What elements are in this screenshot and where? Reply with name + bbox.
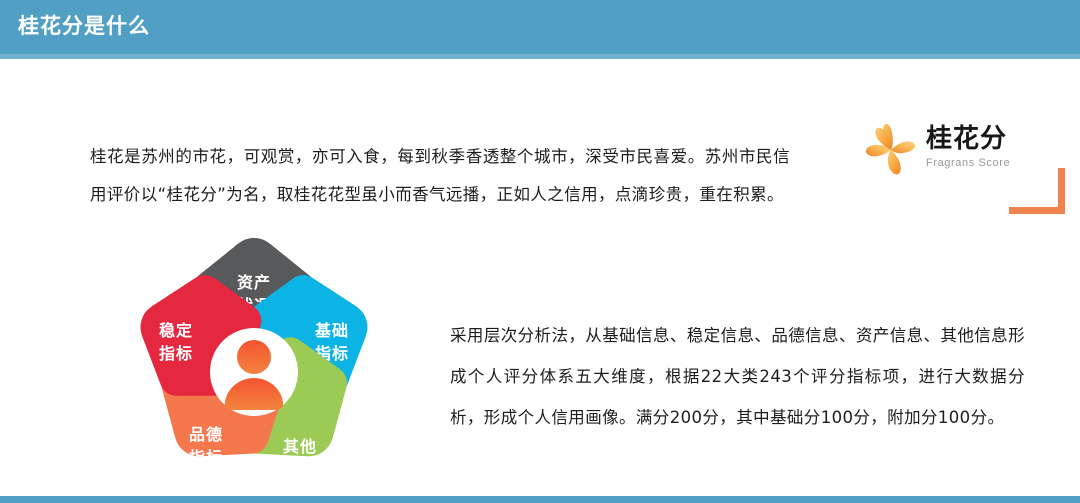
body-paragraph: 采用层次分析法，从基础信息、稳定信息、品德信息、资产信息、其他信息形成个人评分体… [450,315,1025,438]
petal-morality-indicator-line1: 品德 [189,425,223,444]
bracket-horizontal-stroke [1009,207,1065,214]
logo-text: 桂花分 Fragrans Score [926,124,1026,170]
page-title: 桂花分是什么 [18,14,150,40]
osmanthus-flower-icon [862,122,920,178]
brand-logo: 桂花分 Fragrans Score [862,122,1022,184]
petal-basic-indicator-line1: 基础 [314,321,349,340]
intro-paragraph: 桂花是苏州的市花，可观赏，亦可入食，每到秋季香透整个城市，深受市民喜爱。苏州市民… [90,138,790,214]
petal-stability-indicator-line2: 指标 [159,344,193,363]
diagram-center [210,328,298,416]
petal-morality-indicator-line2: 指标 [189,448,223,467]
corner-bracket-decoration [1009,168,1065,214]
logo-name: 桂花分 [926,124,1026,154]
petal-stability-indicator-line1: 稳定 [159,321,193,340]
header-bar [0,0,1080,54]
footer-rule [0,496,1080,503]
header-underline [0,54,1080,59]
petal-asset-status-line1: 资产 [237,273,271,292]
five-dimension-flower-diagram: 资产 状况 基础 指标 其他 品德 指标 稳定 指标 [108,232,408,490]
petal-other-line1: 其他 [283,437,317,456]
